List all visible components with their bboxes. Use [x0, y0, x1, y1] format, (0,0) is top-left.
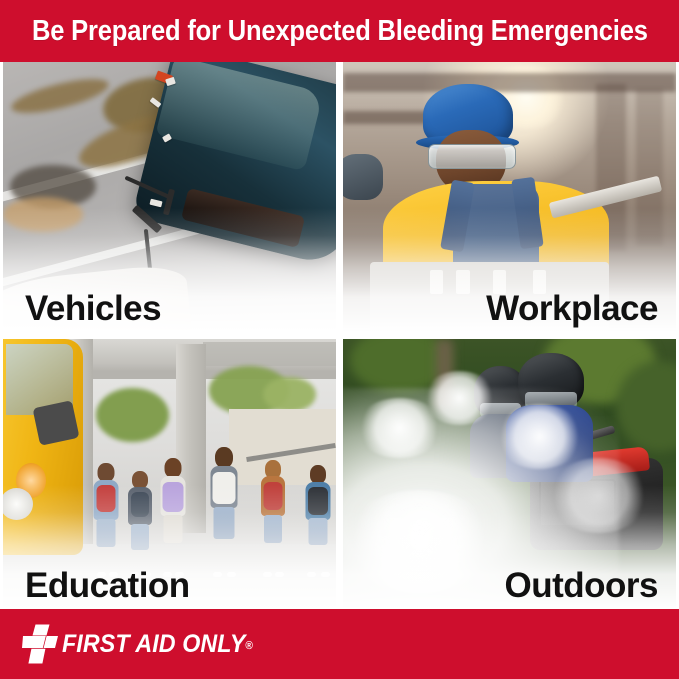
- student-backpack: [162, 482, 183, 512]
- tile-workplace[interactable]: Workplace: [343, 62, 676, 332]
- support-column: [636, 89, 663, 246]
- student: [90, 463, 123, 576]
- machine-peg: [456, 270, 469, 294]
- student-shoe: [213, 572, 222, 577]
- tree-foliage: [263, 377, 316, 412]
- tile-outdoors[interactable]: Outdoors: [343, 339, 676, 609]
- canopy-beam: [203, 342, 336, 366]
- student-legs: [97, 519, 116, 547]
- student-legs: [163, 515, 182, 543]
- student: [256, 458, 289, 577]
- brand-logo[interactable]: FIRST AID ONLY®: [22, 624, 267, 664]
- bus-mirror: [33, 400, 80, 445]
- tree-foliage: [96, 388, 169, 442]
- student-shoe: [307, 572, 316, 577]
- registered-trademark-symbol: ®: [245, 640, 253, 652]
- student-head: [164, 458, 181, 478]
- student: [206, 447, 243, 577]
- student-backpack: [97, 485, 116, 512]
- header-banner: Be Prepared for Unexpected Bleeding Emer…: [0, 0, 679, 62]
- student-legs: [214, 507, 235, 539]
- page-title: Be Prepared for Unexpected Bleeding Emer…: [32, 17, 648, 46]
- tile-caption-outdoors: Outdoors: [505, 568, 658, 603]
- water-droplets: [549, 458, 649, 534]
- student-head: [215, 447, 233, 468]
- student-backpack: [131, 492, 149, 517]
- debris-patch: [3, 197, 83, 232]
- tile-caption-workplace: Workplace: [486, 291, 658, 326]
- first-aid-cross-icon: [22, 624, 58, 664]
- machine-peg: [430, 270, 443, 294]
- student-shoe: [263, 572, 272, 577]
- tile-caption-education: Education: [25, 568, 190, 603]
- use-case-tile-grid: Vehicles: [0, 62, 679, 609]
- student-backpack: [263, 482, 282, 510]
- student-backpack: [213, 472, 236, 504]
- student-legs: [264, 515, 282, 543]
- student-legs: [131, 524, 149, 550]
- student-shoe: [321, 572, 330, 577]
- safety-goggles: [428, 144, 517, 169]
- student-legs: [308, 518, 327, 545]
- student: [299, 463, 336, 576]
- water-droplets: [496, 404, 583, 469]
- footer-brand-bar: FIRST AID ONLY®: [0, 609, 679, 679]
- ceiling-beam: [343, 73, 676, 92]
- tile-vehicles[interactable]: Vehicles: [3, 62, 336, 332]
- brand-name: FIRST AID ONLY: [62, 630, 245, 658]
- work-glove: [343, 154, 383, 200]
- product-image-poster: Be Prepared for Unexpected Bleeding Emer…: [0, 0, 679, 679]
- brand-wordmark: FIRST AID ONLY®: [62, 632, 253, 657]
- student-backpack: [308, 487, 328, 515]
- student: [123, 469, 156, 577]
- student: [156, 458, 189, 577]
- student-shoe: [227, 572, 236, 577]
- student-shoe: [275, 572, 284, 577]
- water-droplets: [343, 490, 496, 593]
- tile-education[interactable]: Education: [3, 339, 336, 609]
- tile-caption-vehicles: Vehicles: [25, 291, 161, 326]
